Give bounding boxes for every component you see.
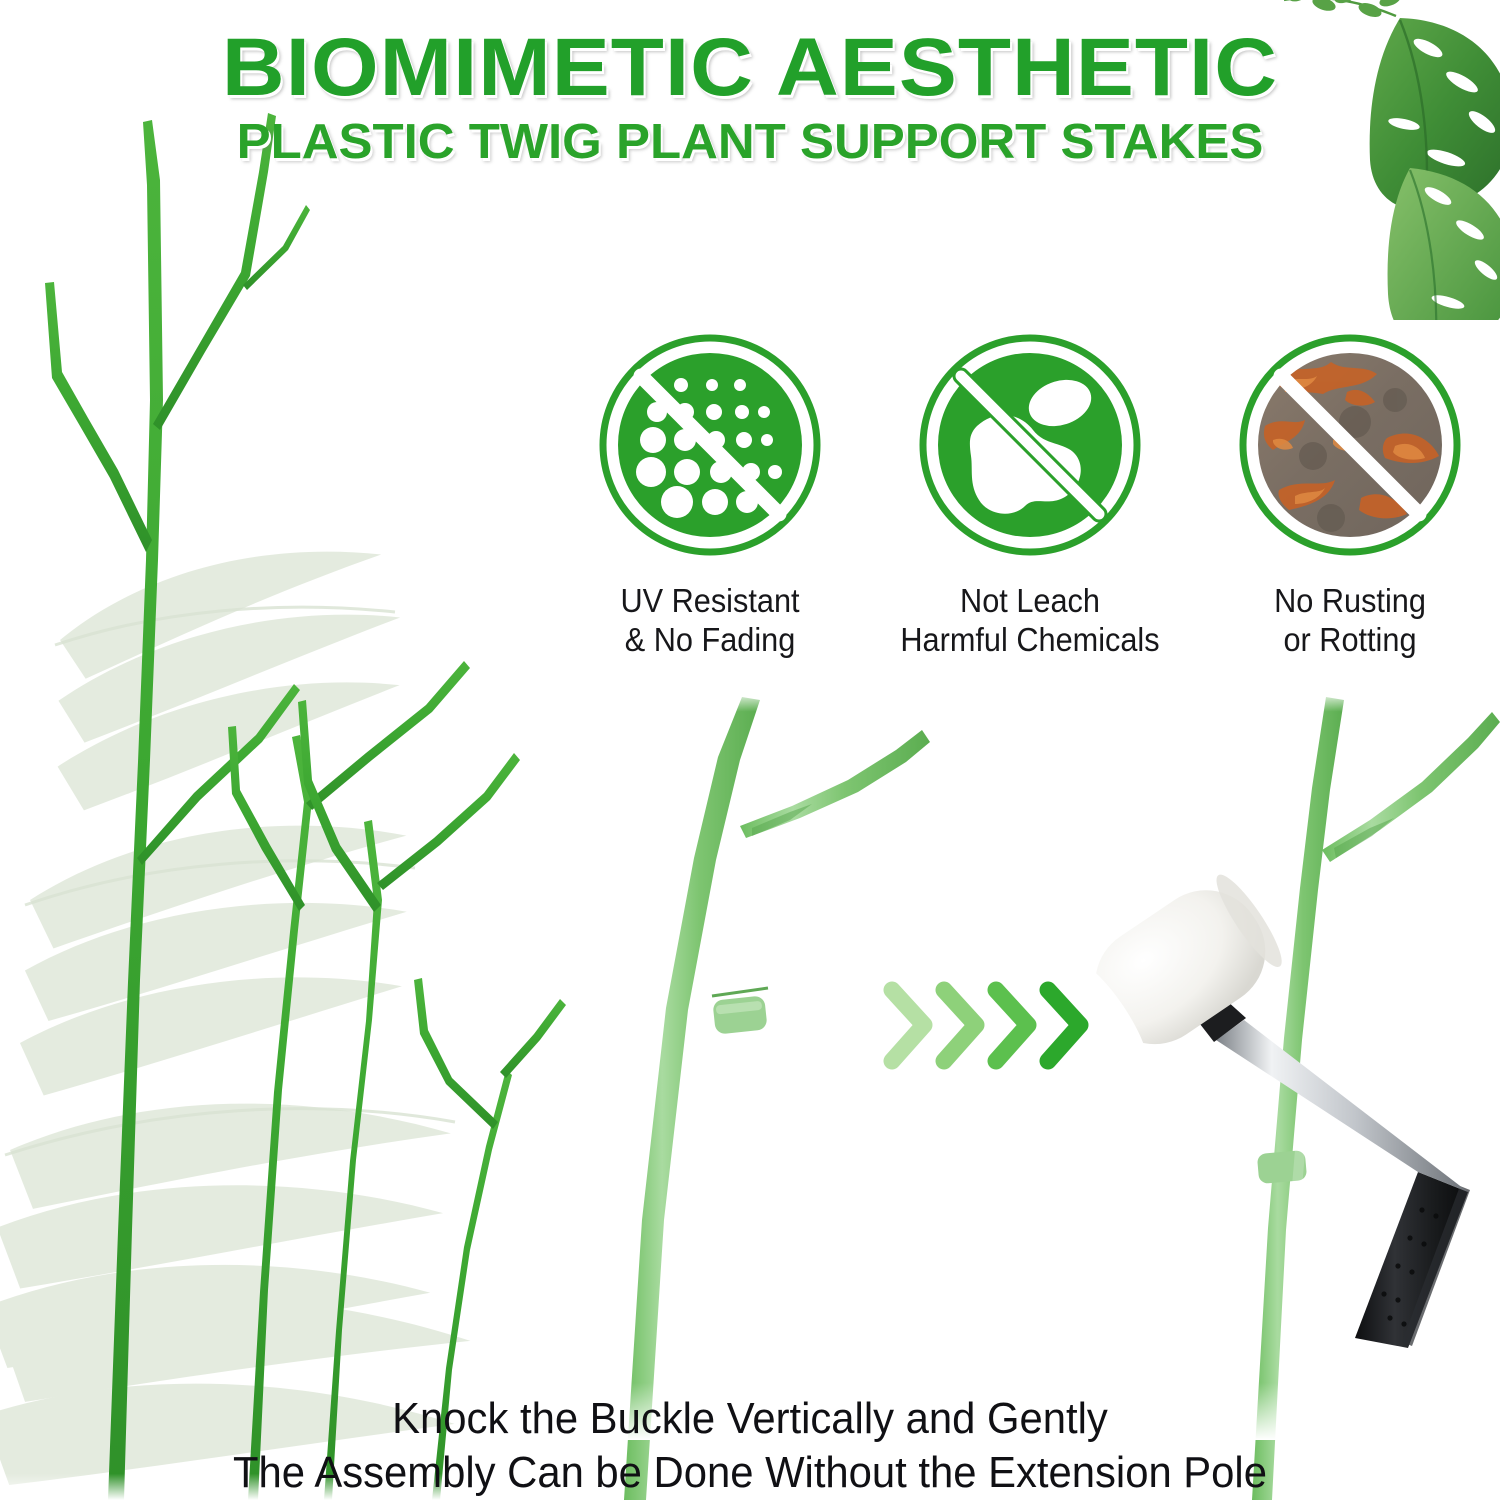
badge-label-leach: Not Leach Harmful Chemicals	[891, 582, 1170, 660]
plastic-twig-stakes-left	[45, 113, 566, 1500]
chevron-2-icon	[944, 990, 976, 1061]
feature-badge-uv-resistant: UV Resistant & No Fading	[560, 330, 860, 660]
badge-label-line1: No Rusting	[1274, 582, 1426, 619]
no-rust-icon	[1235, 330, 1465, 560]
rubber-mallet	[1067, 865, 1470, 1348]
buckle-connector-right	[1257, 1150, 1307, 1184]
badge-label-line1: Not Leach	[960, 582, 1100, 619]
buckle-connector	[712, 988, 768, 1035]
motion-chevron-arrows	[880, 968, 1115, 1083]
palm-frond-background	[0, 538, 472, 1500]
feature-badge-not-leach: Not Leach Harmful Chemicals	[880, 330, 1180, 660]
chevron-1-icon	[892, 990, 924, 1061]
right-support-stake	[1252, 697, 1500, 1500]
badge-label-line1: UV Resistant	[620, 582, 799, 619]
badge-label-rust: No Rusting or Rotting	[1211, 582, 1490, 660]
no-chemical-leach-icon	[915, 330, 1145, 560]
infographic-canvas: BIOMIMETIC AESTHETIC PLASTIC TWIG PLANT …	[0, 0, 1500, 1500]
chevron-3-icon	[996, 990, 1028, 1061]
feature-badge-row: UV Resistant & No Fading Not Leach Harmf…	[560, 330, 1500, 690]
chevron-4-icon	[1048, 990, 1080, 1061]
footer-line-1: Knock the Buckle Vertically and Gently	[38, 1392, 1463, 1446]
badge-label-line2: & No Fading	[625, 621, 796, 658]
product-photo-layer	[0, 0, 1500, 1500]
center-support-stake	[624, 697, 930, 1500]
footer-caption: Knock the Buckle Vertically and Gently T…	[0, 1392, 1500, 1499]
footer-line-2: The Assembly Can be Done Without the Ext…	[38, 1446, 1463, 1500]
page-subtitle: PLASTIC TWIG PLANT SUPPORT STAKES	[0, 118, 1500, 167]
badge-label-line2: Harmful Chemicals	[900, 621, 1159, 658]
page-title: BIOMIMETIC AESTHETIC	[0, 28, 1500, 108]
no-fading-dots-icon	[595, 330, 825, 560]
badge-label-uv: UV Resistant & No Fading	[571, 582, 850, 660]
feature-badge-no-rust: No Rusting or Rotting	[1200, 330, 1500, 660]
headline-block: BIOMIMETIC AESTHETIC PLASTIC TWIG PLANT …	[0, 28, 1500, 167]
badge-label-line2: or Rotting	[1283, 621, 1416, 658]
